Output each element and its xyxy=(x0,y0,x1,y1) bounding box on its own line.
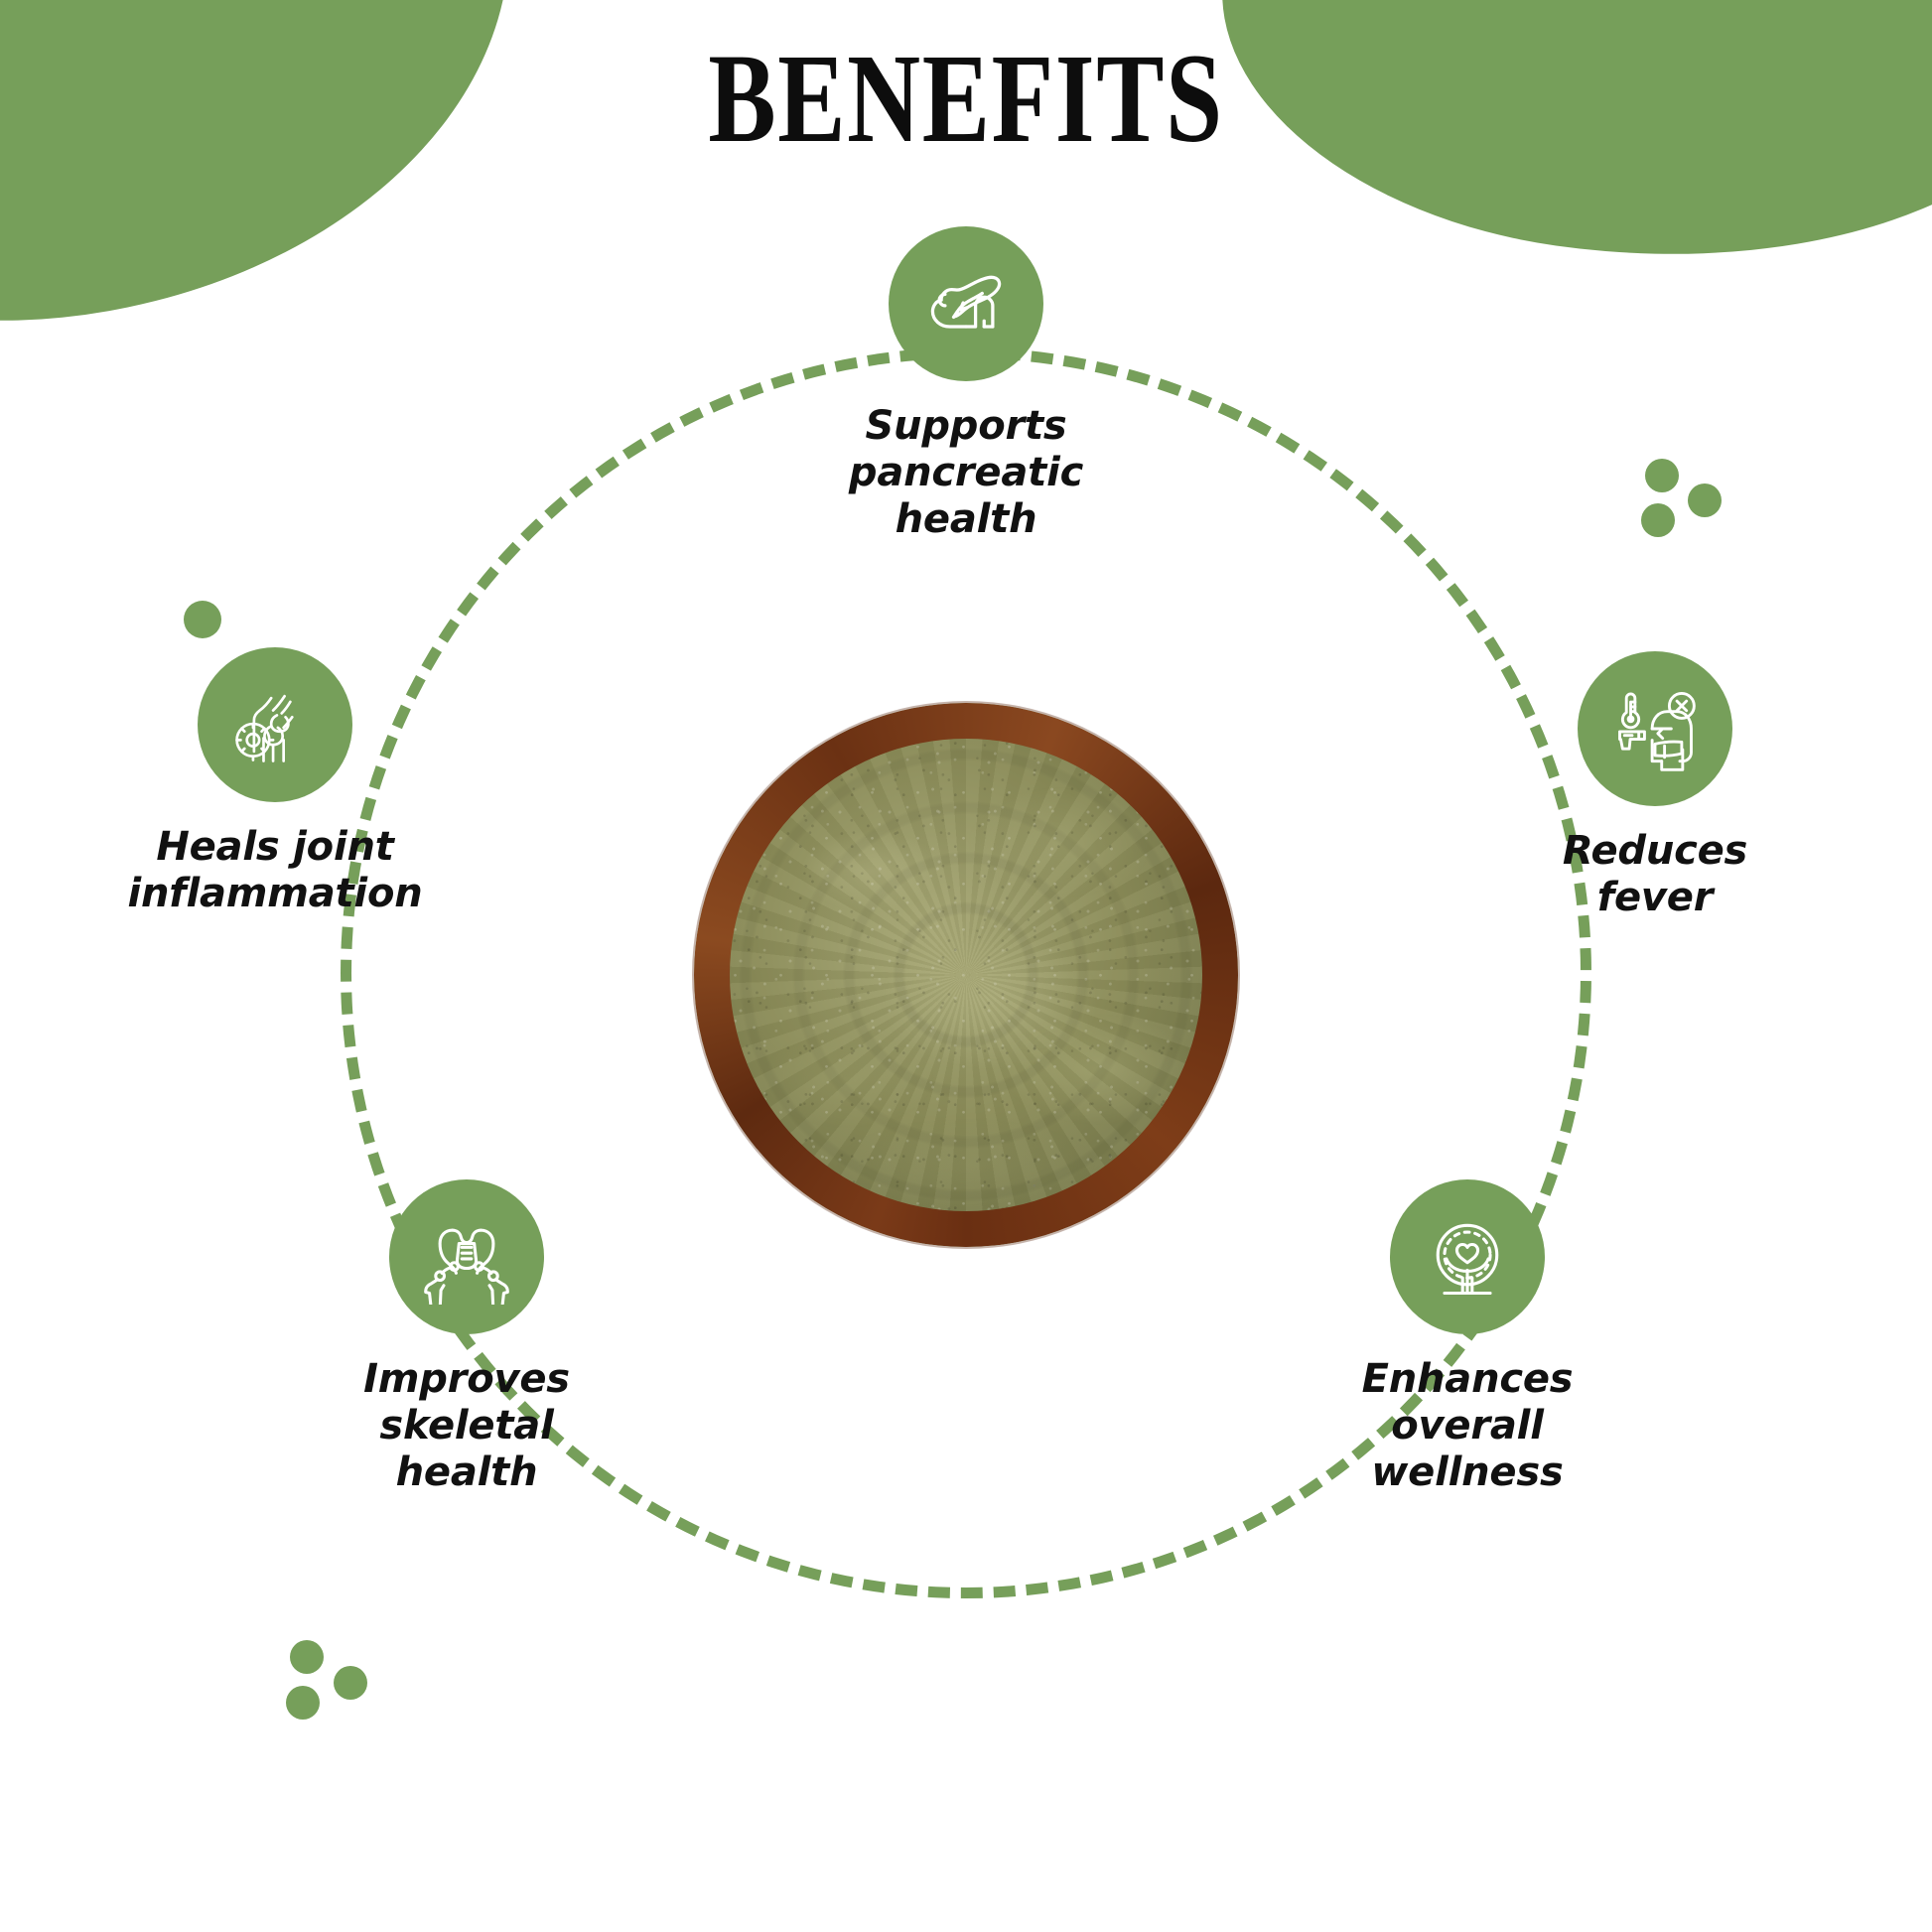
benefit-node-pancreatic-health[interactable]: Supports pancreatic health xyxy=(797,226,1135,544)
decorative-dot-cluster-top-right xyxy=(1645,459,1679,492)
benefit-label: Supports pancreatic health xyxy=(797,403,1135,544)
thermometer-fever-icon xyxy=(1607,681,1703,776)
person-with-heart-icon xyxy=(1420,1209,1515,1305)
powder-texture xyxy=(730,739,1203,1212)
decorative-dot-cluster-top-right xyxy=(1641,503,1675,537)
benefit-icon-circle[interactable] xyxy=(389,1179,544,1334)
benefit-node-reduces-fever[interactable]: Reduces fever xyxy=(1486,651,1824,921)
center-product-image xyxy=(504,563,1428,1387)
benefit-icon-circle[interactable] xyxy=(1578,651,1732,806)
wooden-bowl xyxy=(694,703,1238,1247)
knee-joint-inflammation-icon xyxy=(227,677,323,772)
pancreas-icon xyxy=(918,256,1014,351)
benefit-node-overall-wellness[interactable]: Enhances overall wellness xyxy=(1299,1179,1636,1497)
benefit-label: Improves skeletal health xyxy=(298,1356,635,1497)
decorative-dot-cluster-top-right xyxy=(1688,483,1722,517)
benefit-node-joint-inflammation[interactable]: Heals joint inflammation xyxy=(106,647,444,917)
benefit-node-skeletal-health[interactable]: Improves skeletal health xyxy=(298,1179,635,1497)
decorative-dot-cluster-bottom-left xyxy=(290,1640,324,1674)
benefit-icon-circle[interactable] xyxy=(198,647,352,802)
benefit-label: Reduces fever xyxy=(1486,828,1824,921)
page-title: BENEFITS xyxy=(194,32,1739,165)
benefit-icon-circle[interactable] xyxy=(889,226,1043,381)
decorative-dot-left xyxy=(184,601,221,638)
decorative-dot-cluster-bottom-left xyxy=(286,1686,320,1720)
benefit-label: Heals joint inflammation xyxy=(106,824,444,917)
infographic-canvas: BENEFITS xyxy=(0,0,1932,1932)
benefit-label: Enhances overall wellness xyxy=(1299,1356,1636,1497)
pelvis-bone-icon xyxy=(419,1209,514,1305)
decorative-dot-cluster-bottom-left xyxy=(334,1666,367,1700)
benefit-icon-circle[interactable] xyxy=(1390,1179,1545,1334)
herbal-powder xyxy=(730,739,1203,1212)
